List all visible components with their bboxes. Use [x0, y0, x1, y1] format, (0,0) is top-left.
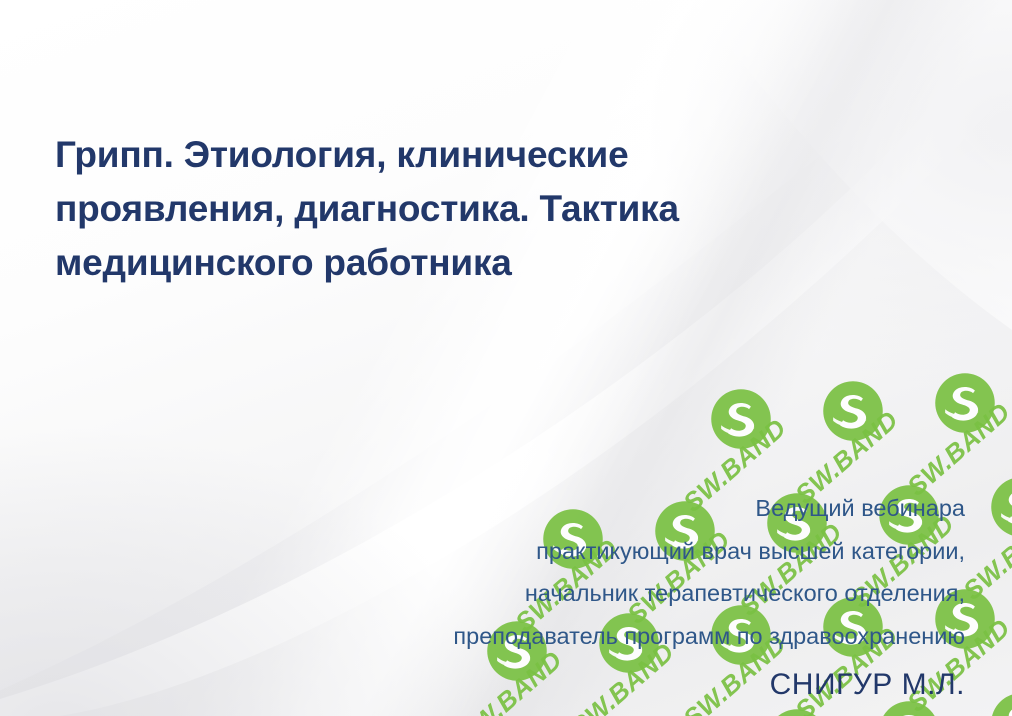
title-line-2: проявления, диагностика. Тактика	[55, 182, 885, 236]
presenter-credential-line-3: преподаватель программ по здравоохранени…	[235, 615, 965, 658]
presenter-role-line: Ведущий вебинара	[235, 487, 965, 530]
presenter-credential-line-1: практикующий врач высшей категории,	[235, 530, 965, 573]
presentation-slide: SW.BANDSW.BANDSW.BANDSW.BANDSW.BANDSW.BA…	[0, 0, 1012, 716]
title-block: Грипп. Этиология, клинические проявления…	[55, 128, 885, 290]
title-line-3: медицинского работника	[55, 236, 885, 290]
presenter-block: Ведущий вебинара практикующий врач высше…	[235, 487, 965, 705]
page-title: Грипп. Этиология, клинические проявления…	[55, 128, 885, 290]
title-line-1: Грипп. Этиология, клинические	[55, 128, 885, 182]
presenter-name: СНИГУР М.Л.	[235, 665, 965, 705]
presenter-credential-line-2: начальник терапевтического отделения,	[235, 572, 965, 615]
